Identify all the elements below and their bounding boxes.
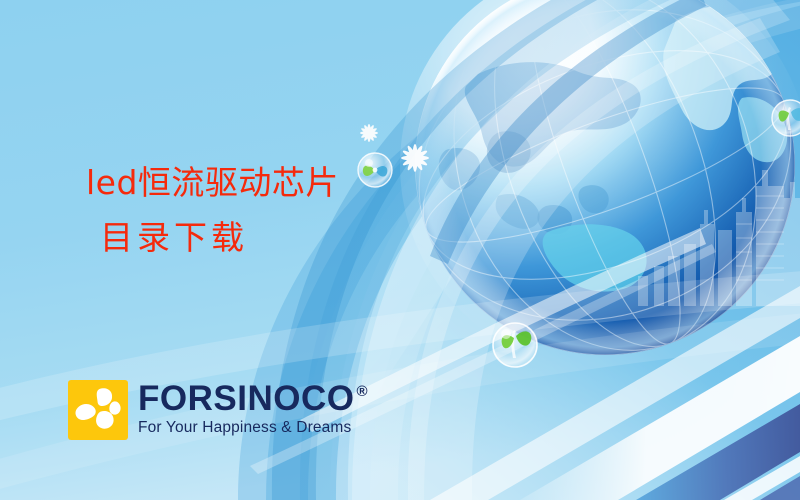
headline: led恒流驱动芯片 目录下载 [86,160,339,260]
four-petal-pinwheel-icon [68,380,128,440]
registered-trademark-icon: ® [356,384,368,399]
brand-tagline: For Your Happiness & Dreams [138,419,368,437]
brand-logo[interactable]: FORSINOCO ® For Your Happiness & Dreams [68,380,368,440]
headline-line-1: led恒流驱动芯片 [86,160,339,206]
headline-line-2: 目录下载 [86,215,339,261]
brand-wordmark: FORSINOCO ® [138,382,368,416]
bubble-leaf-right [772,100,800,136]
bubble-sprout [493,323,537,367]
bubble-pinwheel [358,153,392,187]
slide-canvas: led恒流驱动芯片 目录下载 FORSINOCO ® For Your Happ… [0,0,800,500]
brand-name: FORSINOCO [138,382,354,416]
logo-text-block: FORSINOCO ® For Your Happiness & Dreams [138,380,368,437]
